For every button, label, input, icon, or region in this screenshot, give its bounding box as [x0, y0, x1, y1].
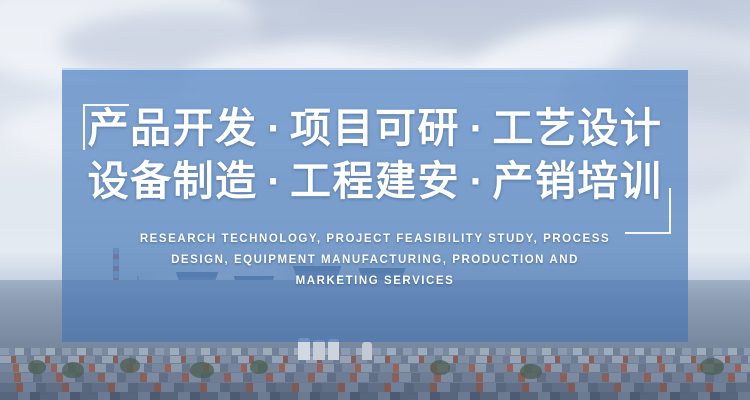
subtitle-line-1: RESEARCH TECHNOLOGY, PROJECT FEASIBILITY… — [140, 229, 610, 250]
headline-seg-1: 产品开发 — [88, 104, 258, 152]
banner-copy: 产品开发·项目可研·工艺设计 设备制造·工程建安·产销培训 RESEARCH T… — [62, 68, 688, 340]
headline-seg-5: 工程建安 — [290, 157, 460, 205]
headline-seg-3: 工艺设计 — [492, 104, 662, 152]
headline-line-1: 产品开发·项目可研·工艺设计 — [88, 102, 663, 155]
headline-seg-4: 设备制造 — [88, 157, 258, 205]
subtitle-line-3: MARKETING SERVICES — [140, 271, 610, 292]
subtitle: RESEARCH TECHNOLOGY, PROJECT FEASIBILITY… — [140, 229, 610, 293]
headline-seg-2: 项目可研 — [290, 104, 460, 152]
headline-line-2: 设备制造·工程建安·产销培训 — [88, 155, 663, 208]
headline-seg-6: 产销培训 — [492, 157, 662, 205]
separator-dot: · — [460, 162, 492, 202]
banner-stage: 产品开发·项目可研·工艺设计 设备制造·工程建安·产销培训 RESEARCH T… — [0, 0, 750, 400]
separator-dot: · — [460, 109, 492, 149]
subtitle-line-2: DESIGN, EQUIPMENT MANUFACTURING, PRODUCT… — [140, 250, 610, 271]
separator-dot: · — [258, 109, 290, 149]
separator-dot: · — [258, 162, 290, 202]
